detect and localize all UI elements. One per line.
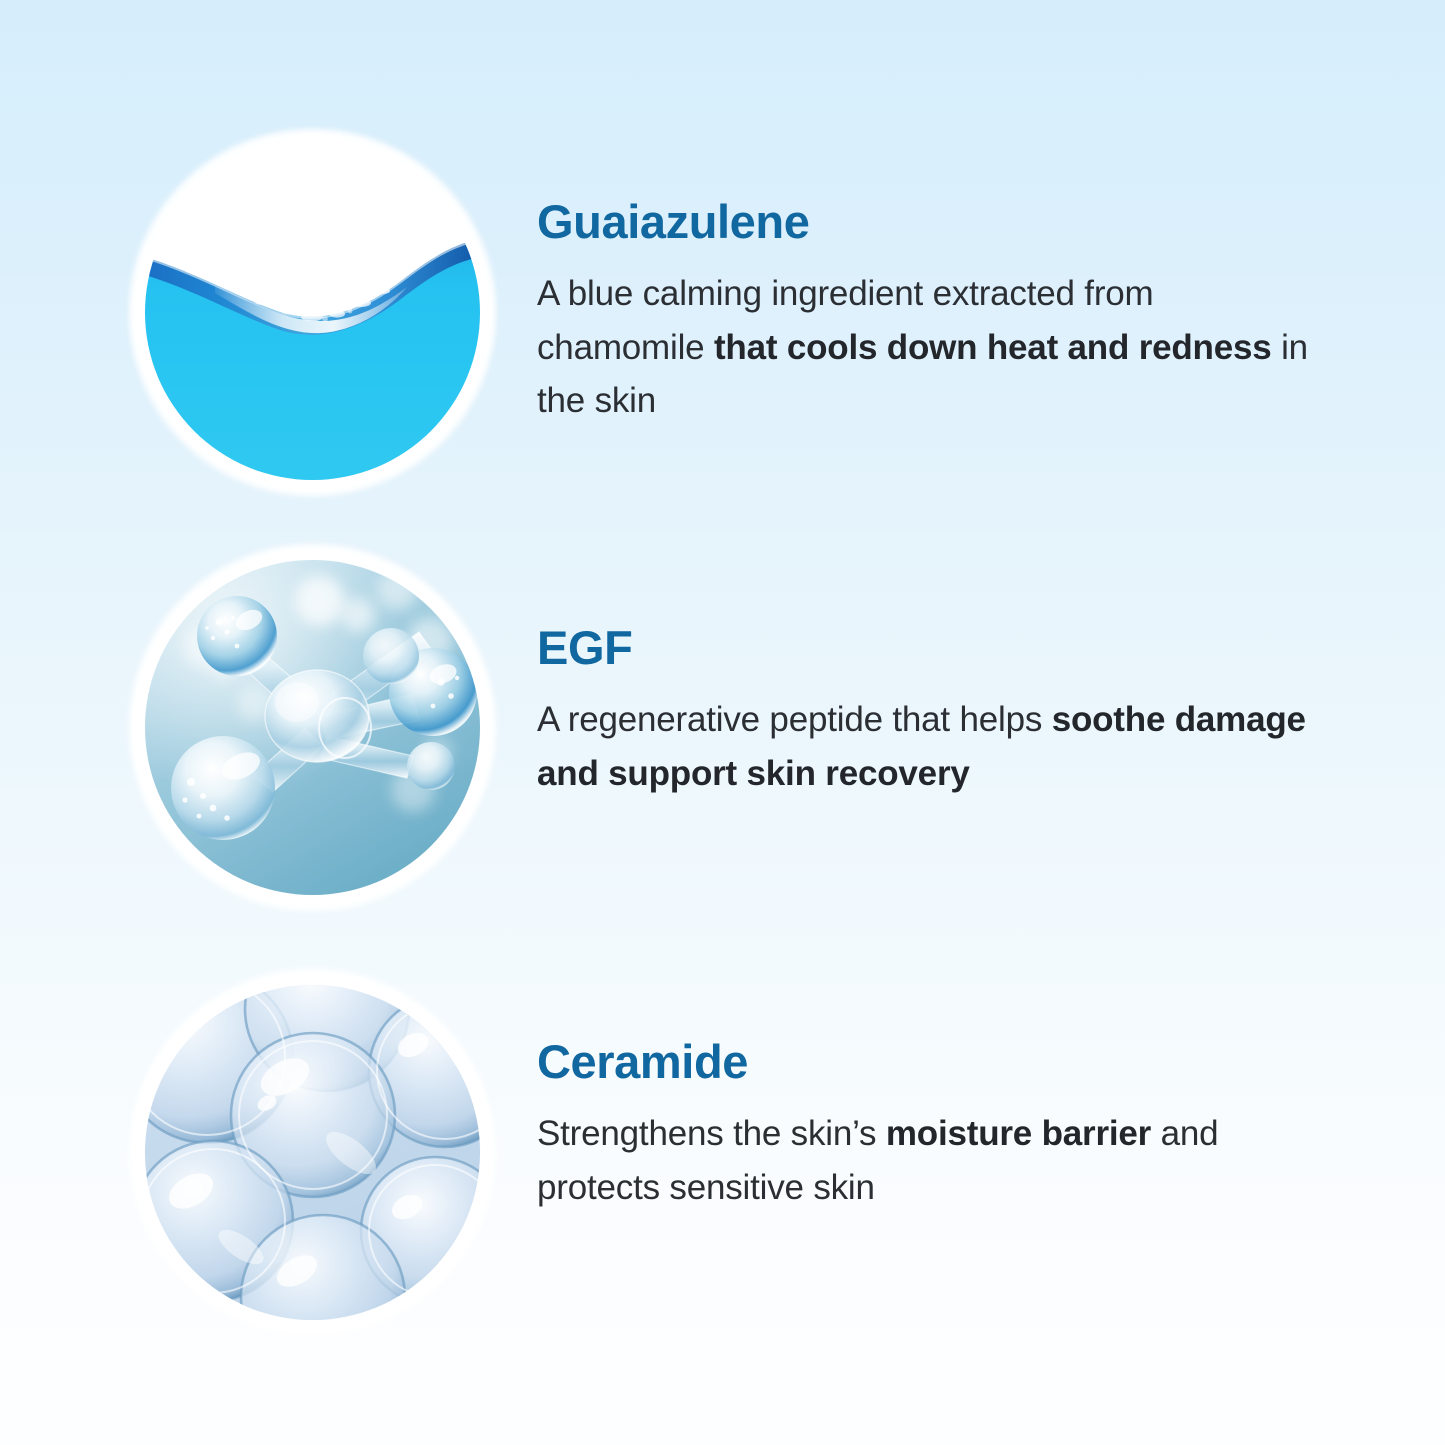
ingredient-description-egf: A regenerative peptide that helps soothe… [537, 693, 1335, 799]
ingredient-row-guaiazulene: Guaiazulene A blue calming ingredient ex… [0, 145, 1445, 480]
ingredient-text-guaiazulene: Guaiazulene A blue calming ingredient ex… [480, 145, 1445, 427]
ingredient-name-egf: EGF [537, 623, 1335, 672]
desc-segment-bold: moisture barrier [886, 1114, 1151, 1153]
molecule-circle-image [145, 560, 480, 895]
ingredient-name-ceramide: Ceramide [537, 1037, 1335, 1086]
desc-segment: A regenerative peptide that helps [537, 700, 1052, 739]
ingredient-infographic: Guaiazulene A blue calming ingredient ex… [0, 0, 1445, 1445]
desc-segment: Strengthens the skin’s [537, 1114, 886, 1153]
ingredient-image-guaiazulene [145, 145, 480, 480]
water-wave-graphic [145, 145, 480, 480]
ingredient-text-egf: EGF A regenerative peptide that helps so… [480, 560, 1445, 800]
ingredient-image-egf [145, 560, 480, 895]
desc-segment-bold: that cools down heat and redness [714, 328, 1272, 367]
ingredient-row-egf: EGF A regenerative peptide that helps so… [0, 560, 1445, 895]
ingredient-text-ceramide: Ceramide Strengthens the skin’s moisture… [480, 985, 1445, 1214]
ingredient-name-guaiazulene: Guaiazulene [537, 197, 1335, 246]
ingredient-description-ceramide: Strengthens the skin’s moisture barrier … [537, 1107, 1327, 1213]
bubbles-circle-image [145, 985, 480, 1320]
molecule-graphic [145, 560, 480, 895]
ingredient-description-guaiazulene: A blue calming ingredient extracted from… [537, 267, 1327, 427]
ingredient-image-ceramide [145, 985, 480, 1320]
water-wave-circle-image [145, 145, 480, 480]
bubbles-graphic [145, 985, 480, 1320]
ingredient-row-ceramide: Ceramide Strengthens the skin’s moisture… [0, 985, 1445, 1320]
